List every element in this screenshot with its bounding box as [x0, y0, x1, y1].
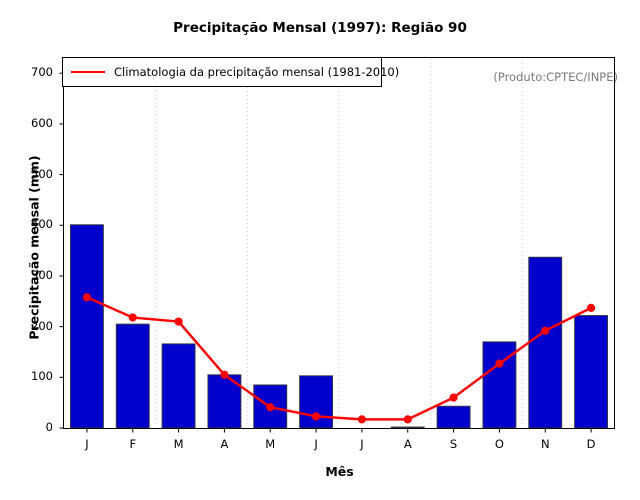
climatology-marker-J-0: [83, 293, 91, 301]
y-tick-500: 500: [13, 167, 53, 181]
x-tick-M-2: M: [159, 437, 199, 451]
bar-D-11: [575, 315, 608, 428]
producer-annotation: (Produto:CPTEC/INPE): [493, 70, 618, 84]
bar-J-0: [70, 225, 103, 428]
climatology-marker-A-7: [404, 415, 412, 423]
y-tick-0: 0: [13, 420, 53, 434]
y-tick-300: 300: [13, 268, 53, 282]
x-tick-J-6: J: [342, 437, 382, 451]
y-tick-200: 200: [13, 319, 53, 333]
bar-S-8: [437, 406, 470, 428]
climatology-marker-A-3: [220, 371, 228, 379]
bar-A-7: [391, 427, 424, 428]
y-tick-700: 700: [13, 65, 53, 79]
climatology-marker-N-10: [541, 327, 549, 335]
chart-figure: Precipitação Mensal (1997): Região 90 Pr…: [0, 0, 640, 500]
x-tick-O-9: O: [479, 437, 519, 451]
climatology-marker-D-11: [587, 304, 595, 312]
x-tick-J-0: J: [67, 437, 107, 451]
x-tick-D-11: D: [571, 437, 611, 451]
bar-N-10: [529, 257, 562, 428]
x-tick-S-8: S: [434, 437, 474, 451]
climatology-marker-J-5: [312, 412, 320, 420]
climatology-marker-S-8: [449, 393, 457, 401]
bar-F-1: [116, 324, 149, 428]
climatology-marker-J-6: [358, 415, 366, 423]
bar-M-2: [162, 344, 195, 428]
y-tick-600: 600: [13, 116, 53, 130]
legend-label-climatologia: Climatologia da precipitação mensal (198…: [114, 65, 399, 79]
climatology-marker-M-4: [266, 403, 274, 411]
climatology-marker-M-2: [174, 317, 182, 325]
y-tick-400: 400: [13, 217, 53, 231]
legend-line-swatch-climatologia: [71, 71, 105, 73]
climatology-marker-O-9: [495, 360, 503, 368]
x-tick-A-7: A: [388, 437, 428, 451]
x-tick-J-5: J: [296, 437, 336, 451]
gridlines: [156, 59, 523, 427]
x-tick-N-10: N: [525, 437, 565, 451]
x-tick-M-4: M: [250, 437, 290, 451]
chart-legend: Climatologia da precipitação mensal (198…: [62, 57, 382, 87]
x-tick-F-1: F: [113, 437, 153, 451]
y-tick-100: 100: [13, 369, 53, 383]
climatology-marker-F-1: [129, 313, 137, 321]
x-tick-A-3: A: [204, 437, 244, 451]
